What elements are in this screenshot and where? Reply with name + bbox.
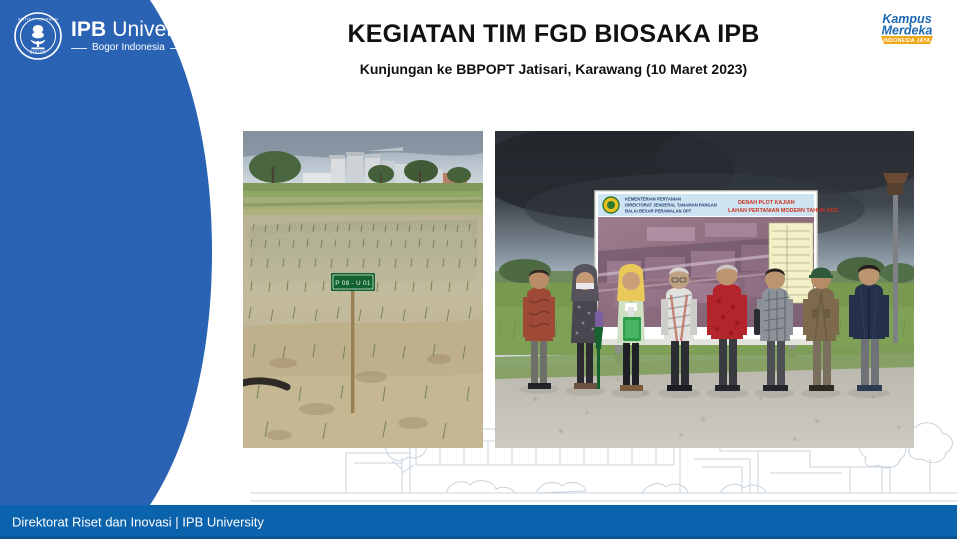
title-block: KEGIATAN TIM FGD BIOSAKA IPB Kunjungan k… [250,20,857,77]
svg-text:LAHAN PERTANIAN MODERN TAHUN 2: LAHAN PERTANIAN MODERN TAHUN 2023 [728,208,838,214]
footer-bar: Direktorat Riset dan Inovasi | IPB Unive… [0,505,957,539]
ipb-seal-icon: BOGOR INSTITUT PERTANIAN [14,12,62,60]
ipb-university-logo: BOGOR INSTITUT PERTANIAN IPB University … [14,12,205,60]
tagline-rule-left [71,48,87,49]
slide-canvas: BOGOR INSTITUT PERTANIAN IPB University … [0,0,957,539]
ipb-wordmark-light: University [112,18,205,41]
svg-text:KEMENTERIAN PERTANIAN: KEMENTERIAN PERTANIAN [625,197,681,202]
ipb-wordmark: IPB University Bogor Indonesia [71,19,205,53]
svg-text:BOGOR: BOGOR [30,49,47,54]
ipb-wordmark-bold: IPB [71,18,106,41]
slide-subtitle: Kunjungan ke BBPOPT Jatisari, Karawang (… [250,61,857,77]
svg-text:INSTITUT PERTANIAN: INSTITUT PERTANIAN [18,17,58,21]
svg-text:DIREKTORAT JENDERAL TANAMAN PA: DIREKTORAT JENDERAL TANAMAN PANGAN [625,203,717,208]
tagline-rule-right [170,48,186,49]
footer-text: Direktorat Riset dan Inovasi | IPB Unive… [12,515,264,530]
svg-text:P 08 - U 01: P 08 - U 01 [335,280,371,287]
photo-rice-field-plot: P 08 - U 01 [243,131,483,448]
slide-title: KEGIATAN TIM FGD BIOSAKA IPB [250,20,857,49]
svg-text:INDONESIA JAYA: INDONESIA JAYA [883,38,930,44]
svg-text:BALAI BESAR PERAMALAN OPT: BALAI BESAR PERAMALAN OPT [625,209,692,214]
ipb-tagline-text: Bogor Indonesia [92,43,165,53]
ipb-tagline: Bogor Indonesia [71,43,205,53]
svg-text:DENAH PLOT KAJIAN: DENAH PLOT KAJIAN [738,200,795,206]
kampus-merdeka-logo: Kampus Merdeka INDONESIA JAYA [871,8,943,48]
photo-team-group-billboard: KEMENTERIAN PERTANIAN DIREKTORAT JENDERA… [495,131,914,448]
svg-text:Merdeka: Merdeka [882,24,933,38]
left-blue-panel [0,0,240,505]
